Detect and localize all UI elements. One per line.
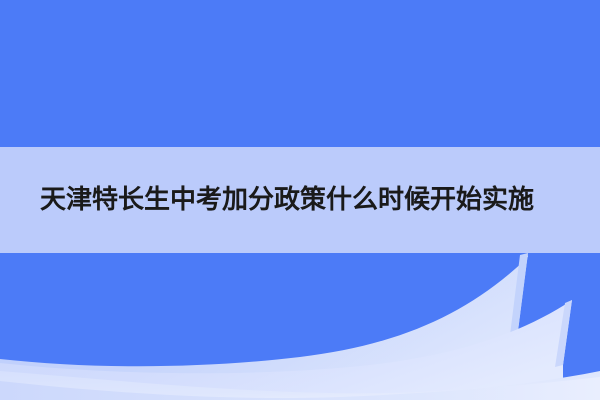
banner-card: 天津特长生中考加分政策什么时候开始实施 bbox=[0, 0, 600, 400]
page-title: 天津特长生中考加分政策什么时候开始实施 bbox=[40, 186, 534, 215]
title-band: 天津特长生中考加分政策什么时候开始实施 bbox=[0, 147, 600, 253]
wave-decoration-graphic bbox=[0, 253, 600, 400]
bottom-wave-band bbox=[0, 253, 600, 400]
top-blue-band bbox=[0, 0, 600, 147]
